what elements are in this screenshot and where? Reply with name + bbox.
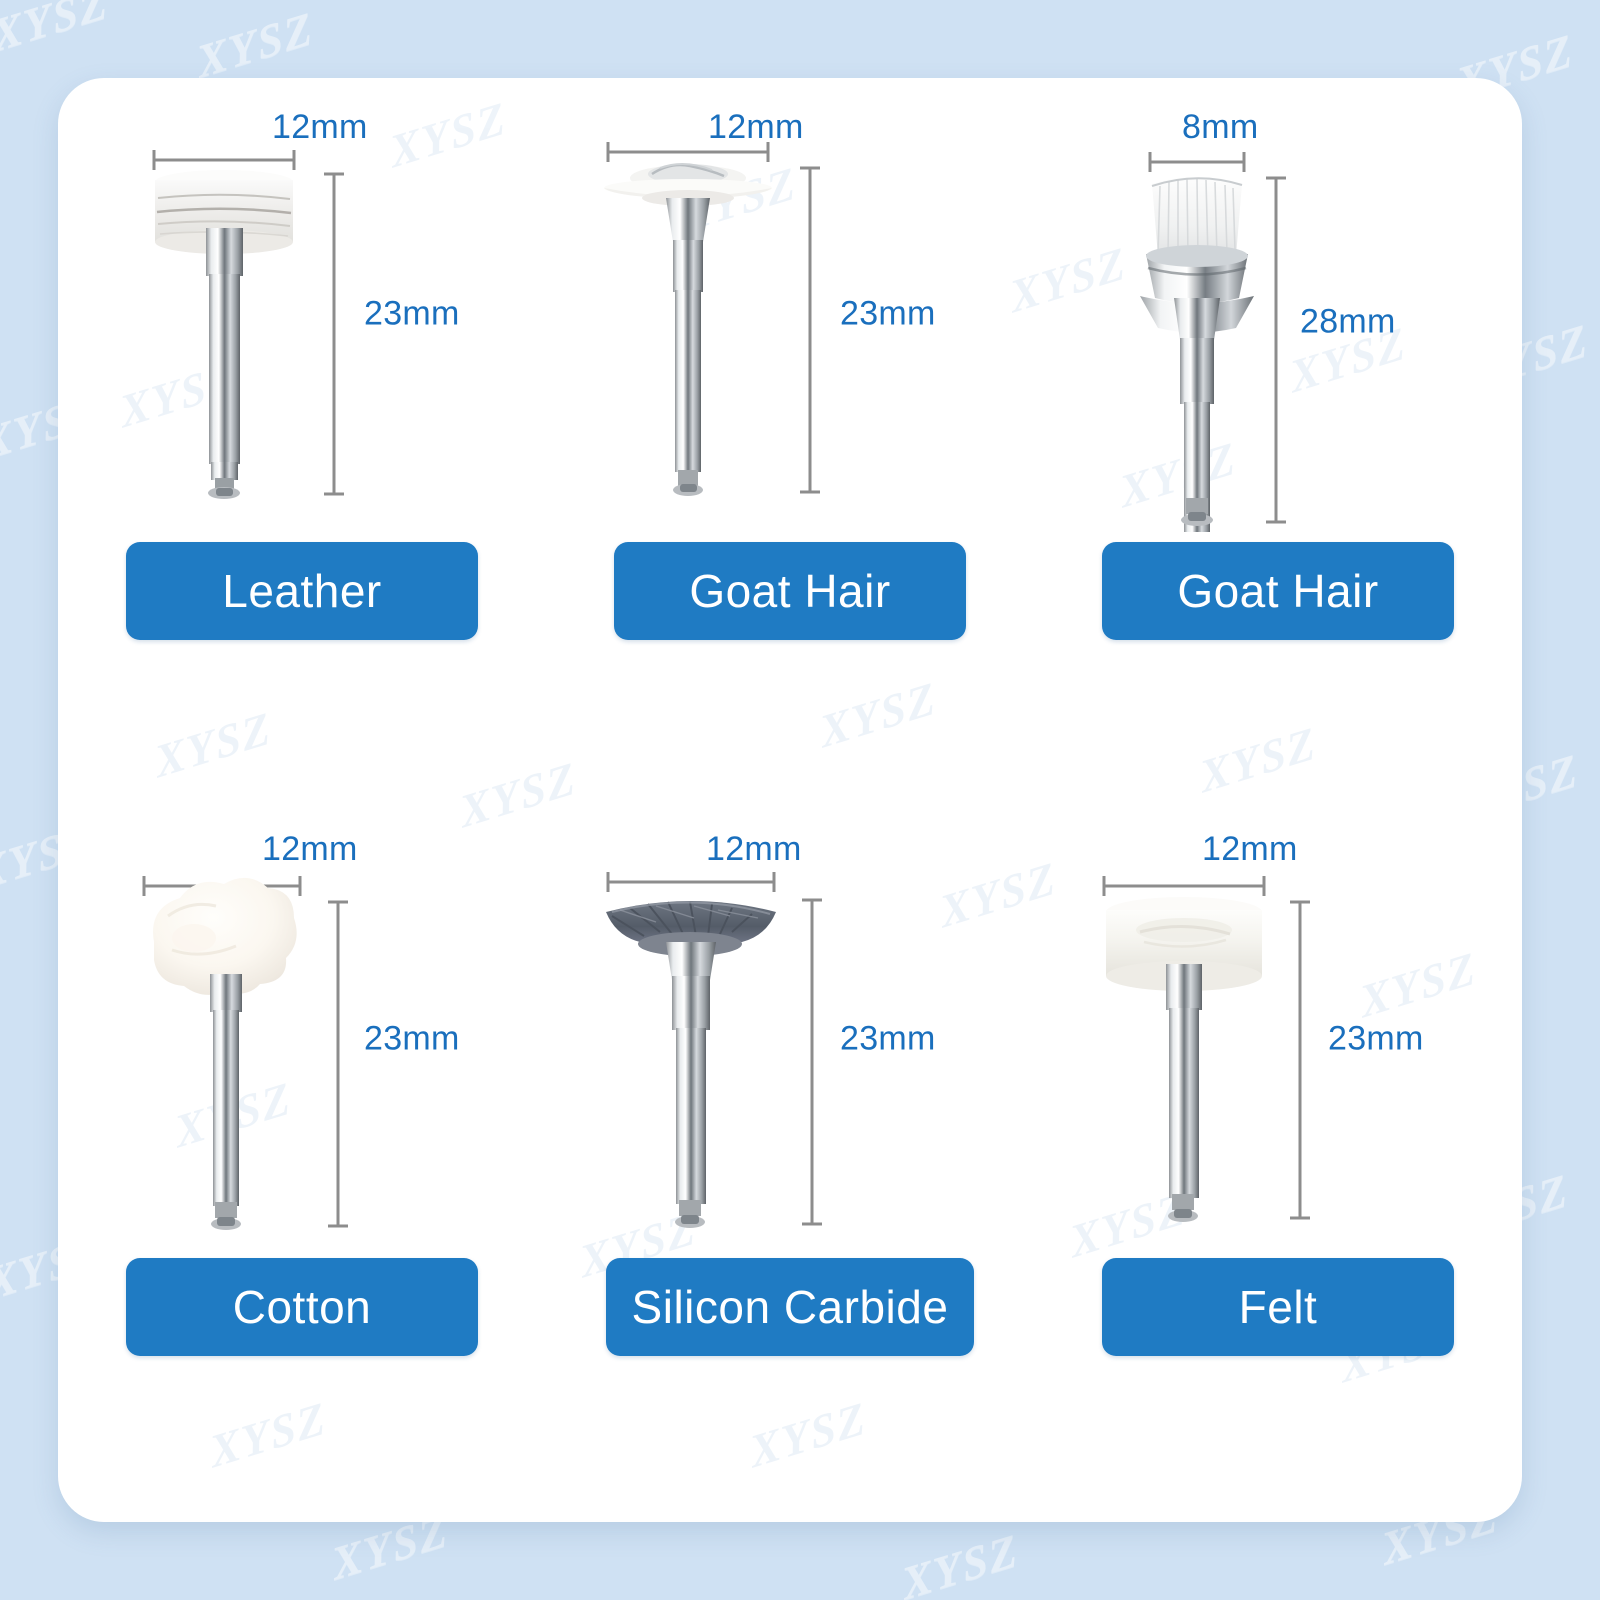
product-cell-silicon-carbide: 12mm 23mm (546, 800, 1034, 1522)
height-dimension-line (1290, 902, 1310, 1218)
dimension-width-label: 12mm (706, 830, 802, 869)
dimension-width-label: 12mm (1202, 830, 1298, 869)
product-label-silicon-carbide[interactable]: Silicon Carbide (606, 1258, 975, 1356)
width-dimension-line (1104, 876, 1264, 896)
dimension-width-label: 8mm (1182, 108, 1258, 147)
width-dimension-line (1150, 152, 1244, 172)
dimension-height-label: 23mm (364, 295, 460, 334)
product-cell-cotton: 12mm 23mm (58, 800, 546, 1522)
dimension-height-label: 28mm (1300, 303, 1396, 342)
goat-hair-disc-shaft (666, 198, 710, 496)
height-dimension-line (324, 174, 344, 494)
product-label-text: Silicon Carbide (632, 1280, 949, 1334)
product-figure-goat-hair-cup: 8mm 28mm (1078, 102, 1478, 532)
product-label-text: Cotton (233, 1280, 372, 1334)
cotton-shaft (210, 974, 242, 1230)
product-label-cotton[interactable]: Cotton (126, 1258, 478, 1356)
dimension-height-label: 23mm (840, 1020, 936, 1059)
leather-shaft (206, 228, 243, 499)
cup-brush-shaft (1174, 298, 1220, 532)
height-dimension-line (1266, 178, 1286, 522)
product-cell-leather: 12mm 23mm (58, 78, 546, 800)
dimension-width-label: 12mm (708, 108, 804, 147)
goat-hair-cup-brush-illustration (1078, 102, 1478, 532)
product-grid: 12mm 23mm (58, 78, 1522, 1522)
product-figure-leather: 12mm 23mm (102, 102, 502, 532)
height-dimension-line (802, 900, 822, 1224)
height-dimension-line (800, 168, 820, 492)
dimension-height-label: 23mm (1328, 1020, 1424, 1059)
product-figure-cotton: 12mm 23mm (102, 824, 502, 1254)
width-dimension-line (608, 872, 774, 892)
silicon-carbide-shaft (666, 942, 716, 1228)
product-spec-sheet: XYSZ XYSZ XYSZ XYSZ XYSZ XYSZ XYSZ XYSZ … (0, 0, 1600, 1600)
product-cell-goat-hair-cup: 8mm 28mm (1034, 78, 1522, 800)
product-label-felt[interactable]: Felt (1102, 1258, 1454, 1356)
dimension-width-label: 12mm (272, 108, 368, 147)
product-label-goat-hair-disc[interactable]: Goat Hair (614, 542, 966, 640)
product-figure-felt: 12mm 23mm (1078, 824, 1478, 1254)
product-label-goat-hair-cup[interactable]: Goat Hair (1102, 542, 1454, 640)
felt-shaft (1166, 964, 1202, 1222)
product-cell-goat-hair-disc: 12mm 23mm (546, 78, 1034, 800)
dimension-width-label: 12mm (262, 830, 358, 869)
product-label-leather[interactable]: Leather (126, 542, 478, 640)
product-label-text: Felt (1239, 1280, 1318, 1334)
dimension-height-label: 23mm (840, 295, 936, 334)
watermark-xysz: XYSZ (0, 0, 112, 63)
product-cell-felt: 12mm 23mm (1034, 800, 1522, 1522)
product-label-text: Goat Hair (1177, 564, 1378, 618)
width-dimension-line (154, 150, 294, 170)
product-figure-silicon-carbide: 12mm 23mm (590, 824, 990, 1254)
product-card: XYSZ XYSZ XYSZ XYSZ XYSZ XYSZ XYSZ XYSZ … (58, 78, 1522, 1522)
dimension-height-label: 23mm (364, 1020, 460, 1059)
watermark-xysz: XYSZ (193, 0, 317, 88)
product-figure-goat-hair-disc: 12mm 23mm (590, 102, 990, 532)
product-label-text: Goat Hair (689, 564, 890, 618)
product-label-text: Leather (222, 564, 382, 618)
watermark-xysz: XYSZ (898, 1522, 1022, 1600)
height-dimension-line (328, 902, 348, 1226)
